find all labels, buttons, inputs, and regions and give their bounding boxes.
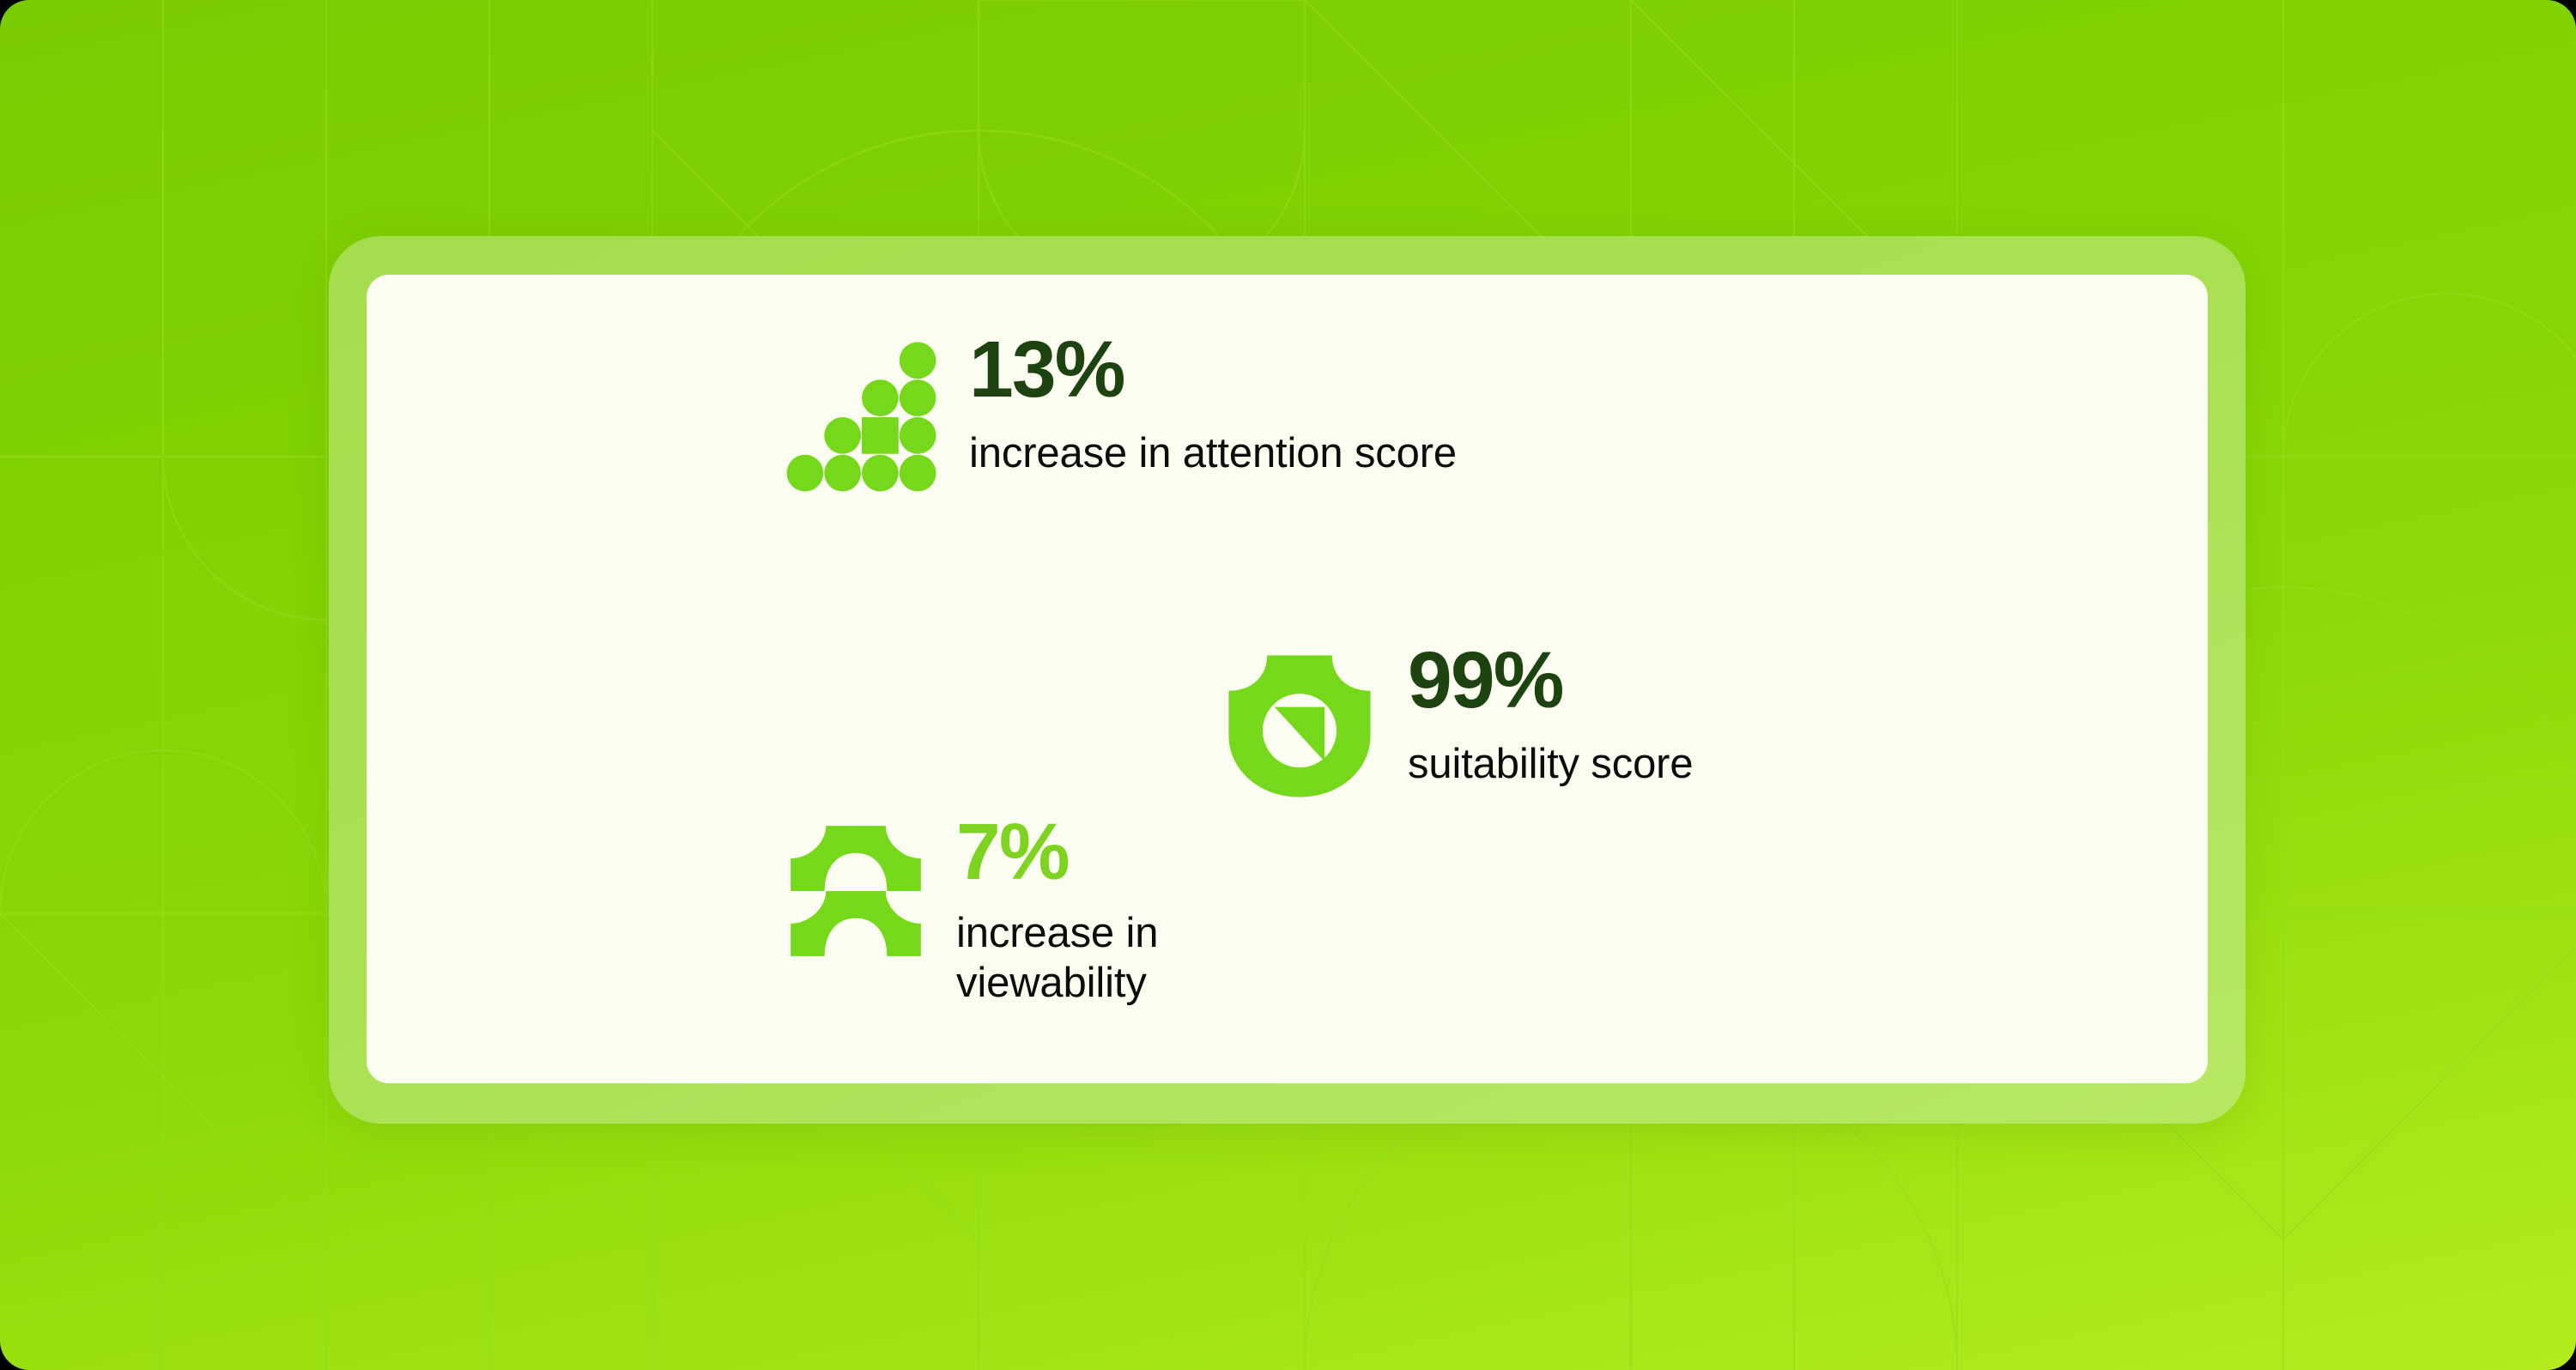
bridge-arch-icon [788, 822, 924, 960]
stat-label: suitability score [1408, 740, 1693, 790]
stat-label: increase in attention score [969, 429, 1457, 479]
stat-attention: 13% increase in attention score [786, 342, 1457, 492]
stat-value: 99% [1408, 640, 1693, 720]
shield-icon [1226, 652, 1373, 800]
stat-value: 13% [969, 330, 1457, 409]
stat-viewability: 7% increase in viewability [788, 822, 1158, 1009]
stat-value: 7% [956, 812, 1158, 892]
stat-text: 7% increase in viewability [956, 822, 1158, 1009]
stat-text: 13% increase in attention score [969, 342, 1457, 479]
dot-grid-icon [786, 342, 936, 492]
stat-label: increase in viewability [956, 909, 1158, 1009]
stat-suitability: 99% suitability score [1226, 652, 1693, 800]
promo-stage: 13% increase in attention score 99% suit… [0, 0, 2576, 1370]
stat-text: 99% suitability score [1408, 652, 1693, 790]
